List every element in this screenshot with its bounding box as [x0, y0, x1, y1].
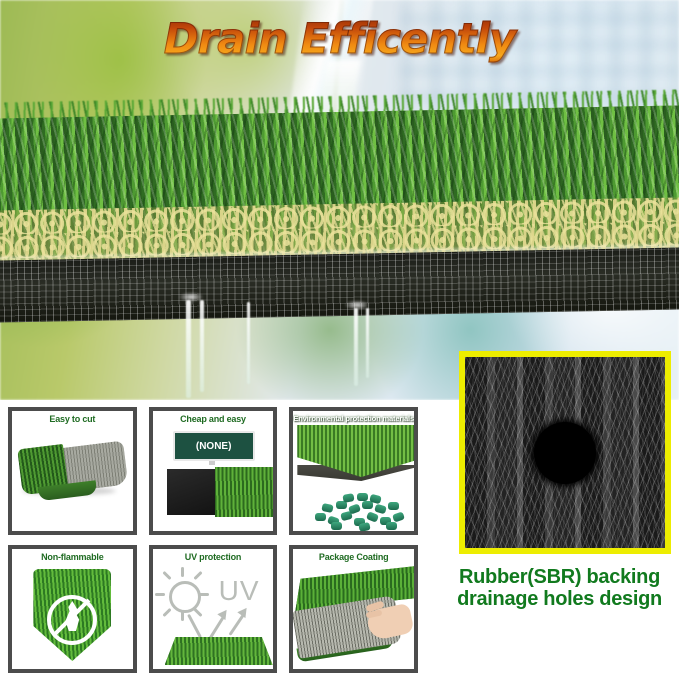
feature-label: Package Coating — [293, 552, 414, 562]
feature-cell-cheap-and-easy[interactable]: Cheap and easy (NONE) — [149, 407, 278, 535]
feature-cell-uv-protection[interactable]: UV protection UV — [149, 545, 278, 673]
rubber-caption-line2: drainage holes design — [440, 588, 679, 610]
feature-label: UV protection — [153, 552, 274, 562]
resin-pellets — [311, 491, 415, 531]
water-drip — [186, 300, 191, 398]
feature-grid: Easy to cut Cheap and easy (NONE) — [8, 407, 418, 673]
lawn-surface — [165, 637, 273, 665]
feature-label: Cheap and easy — [153, 414, 274, 424]
water-splash — [178, 292, 204, 302]
hero-photo: Drain Efficently — [0, 0, 679, 400]
product-marketing-image: Drain Efficently Easy to cut Cheap and e… — [0, 0, 679, 679]
none-sign-icon: (NONE) — [153, 425, 274, 529]
uv-label: UV — [219, 575, 260, 607]
feature-cell-environmental-protection[interactable]: Environmental protection materials — [289, 407, 418, 535]
page-title: Drain Efficently — [0, 14, 679, 63]
uv-sun-icon: UV — [153, 563, 274, 667]
feature-label: Easy to cut — [12, 414, 133, 424]
feature-label: Non-flammable — [12, 552, 133, 562]
turf-and-pellets-icon — [293, 425, 414, 529]
feature-cell-non-flammable[interactable]: Non-flammable — [8, 545, 137, 673]
none-sign: (NONE) — [173, 431, 255, 461]
water-drip — [247, 302, 250, 384]
water-splash — [344, 300, 370, 310]
rubber-caption-line1: Rubber(SBR) backing — [440, 566, 679, 588]
feature-label: Environmental protection materials — [293, 414, 414, 423]
turf-mesh-backing — [0, 247, 679, 322]
hand-lifting-turf-icon — [293, 563, 414, 667]
water-drip — [354, 308, 358, 386]
rubber-backing-panel — [459, 351, 671, 554]
none-sign-text: (NONE) — [196, 441, 232, 452]
rolled-turf-icon — [12, 425, 133, 529]
water-drip — [200, 300, 204, 392]
no-fire-shield-icon — [12, 563, 133, 667]
rubber-caption: Rubber(SBR) backing drainage holes desig… — [440, 566, 679, 611]
feature-cell-easy-to-cut[interactable]: Easy to cut — [8, 407, 137, 535]
feature-cell-package-coating[interactable]: Package Coating — [289, 545, 418, 673]
water-drip — [366, 308, 369, 378]
turf-slab — [0, 105, 679, 318]
drainage-hole — [534, 422, 596, 484]
